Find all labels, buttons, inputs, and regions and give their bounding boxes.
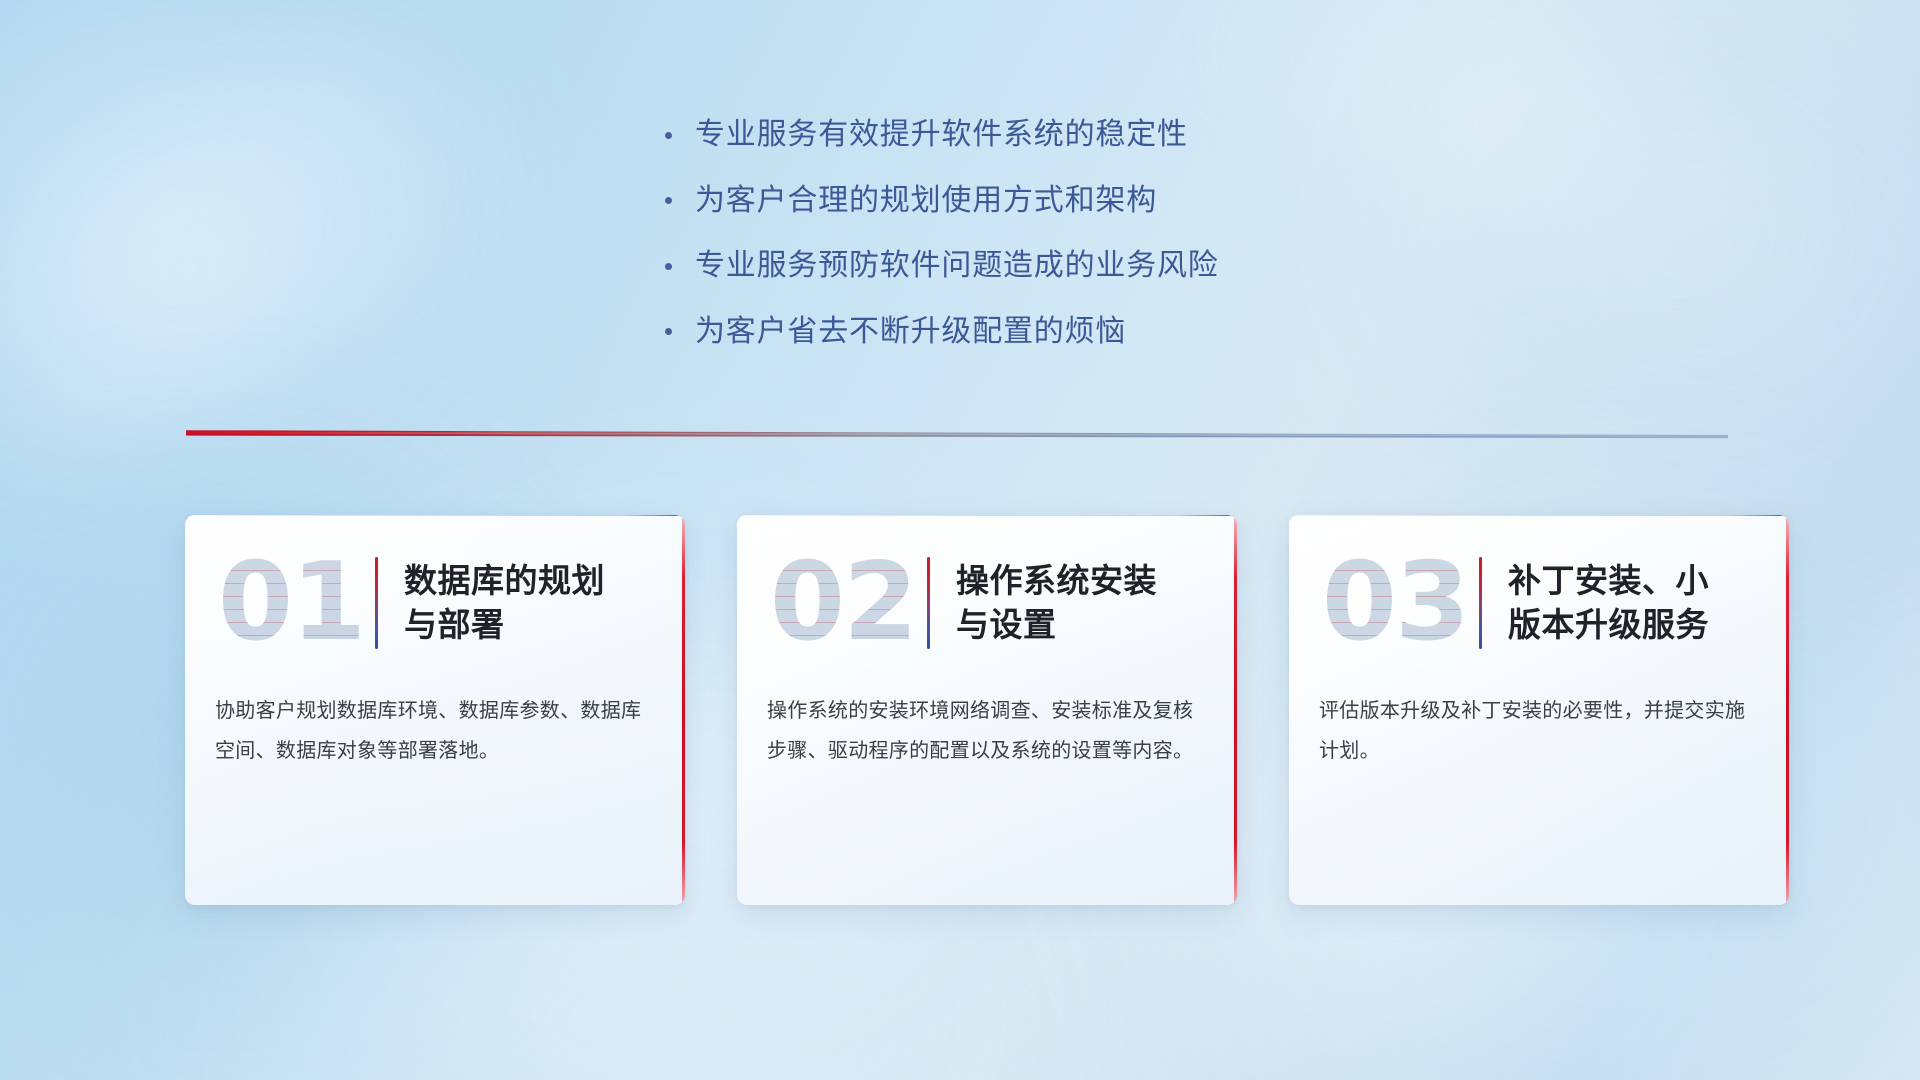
card-title: 操作系统安装 与设置: [956, 559, 1157, 647]
bullet-dot-icon: [665, 186, 695, 212]
bullet-item: 为客户合理的规划使用方式和架构: [665, 182, 1425, 220]
card-description: 操作系统的安装环境网络调查、安装标准及复核步骤、驱动程序的配置以及系统的设置等内…: [737, 691, 1237, 771]
bullet-item: 专业服务预防软件问题造成的业务风险: [665, 247, 1425, 285]
card-accent-rule: [1479, 557, 1482, 649]
card-number-glyph: 01: [218, 549, 364, 657]
service-card-03[interactable]: 03 03 补丁安装、小 版本升级服务 评估版本升级及补丁安装的必要性，并提交实…: [1289, 515, 1789, 905]
card-header: 03 03 补丁安装、小 版本升级服务: [1289, 515, 1789, 691]
bullet-item-text: 专业服务有效提升软件系统的稳定性: [695, 116, 1188, 154]
bullet-item-text: 为客户合理的规划使用方式和架构: [695, 182, 1157, 220]
service-card-01[interactable]: 01 01 数据库的规划 与部署 协助客户规划数据库环境、数据库参数、数据库空间…: [185, 515, 685, 905]
card-number-watermark: 01 01: [213, 544, 369, 662]
card-header: 02 02 操作系统安装 与设置: [737, 515, 1237, 691]
bullet-dot-icon: [665, 120, 695, 146]
card-number-glyph: 02: [770, 549, 916, 657]
bullet-dot-icon: [665, 317, 695, 343]
card-description: 评估版本升级及补丁安装的必要性，并提交实施计划。: [1289, 691, 1789, 771]
service-cards-row: 01 01 数据库的规划 与部署 协助客户规划数据库环境、数据库参数、数据库空间…: [185, 515, 1790, 905]
card-top-highlight: [1289, 515, 1786, 516]
card-title: 数据库的规划 与部署: [404, 559, 605, 647]
card-number-glyph: 03: [1322, 549, 1468, 657]
card-number-watermark: 03 03: [1317, 544, 1473, 662]
card-top-highlight: [185, 515, 682, 516]
card-accent-rule: [927, 557, 930, 649]
benefits-bullet-list: 专业服务有效提升软件系统的稳定性 为客户合理的规划使用方式和架构 专业服务预防软…: [665, 116, 1425, 378]
card-description: 协助客户规划数据库环境、数据库参数、数据库空间、数据库对象等部署落地。: [185, 691, 685, 771]
bullet-item-text: 专业服务预防软件问题造成的业务风险: [695, 247, 1219, 285]
bullet-item: 专业服务有效提升软件系统的稳定性: [665, 116, 1425, 154]
card-top-highlight: [737, 515, 1234, 516]
card-title: 补丁安装、小 版本升级服务: [1508, 559, 1709, 647]
card-accent-rule: [375, 557, 378, 649]
bullet-item-text: 为客户省去不断升级配置的烦恼: [695, 313, 1126, 351]
section-divider: [186, 428, 1728, 444]
divider-shape: [186, 428, 1728, 444]
bullet-item: 为客户省去不断升级配置的烦恼: [665, 313, 1425, 351]
service-card-02[interactable]: 02 02 操作系统安装 与设置 操作系统的安装环境网络调查、安装标准及复核步骤…: [737, 515, 1237, 905]
bullet-dot-icon: [665, 251, 695, 277]
card-number-watermark: 02 02: [765, 544, 921, 662]
card-header: 01 01 数据库的规划 与部署: [185, 515, 685, 691]
